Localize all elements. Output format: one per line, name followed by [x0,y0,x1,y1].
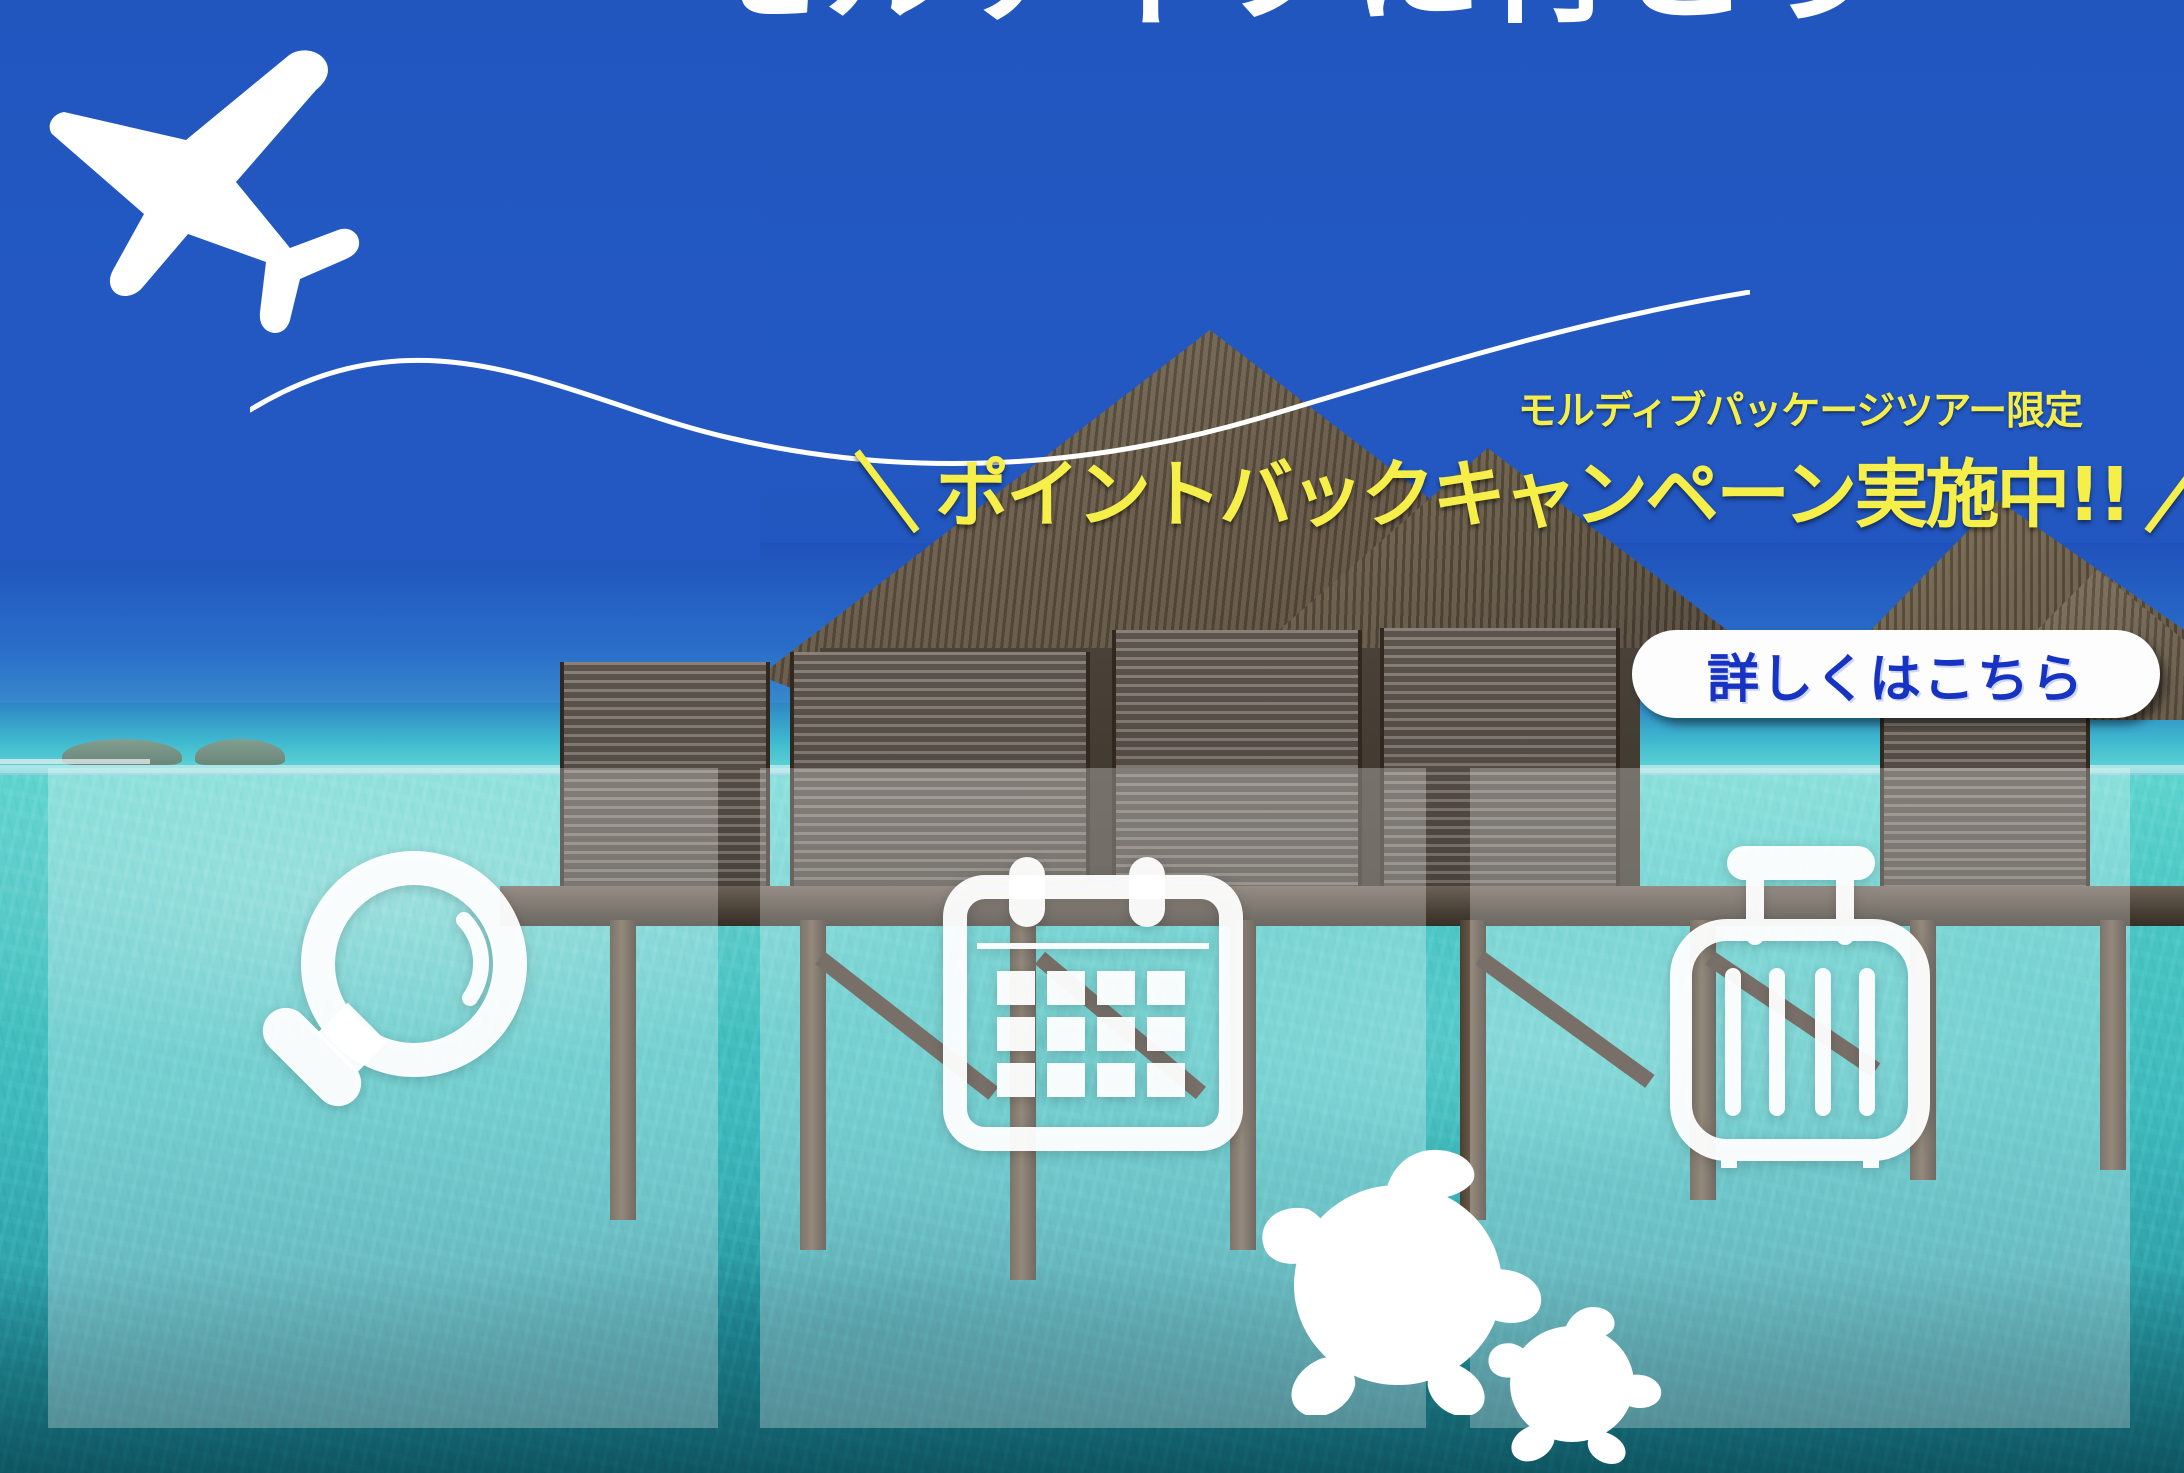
suitcase-icon [1470,838,2130,1168]
calendar-icon [760,838,1426,1168]
baby-sea-turtle-icon [1480,1300,1670,1465]
campaign-headline: ＼ ポイントバックキャンペーン実施中!! ／ [880,452,2184,538]
panel-search-tours[interactable]: ツアーを探す [48,768,718,1428]
maldives-travel-banner: モルディブに行こう モルディブパッケージツアー限定 ＼ ポイントバックキャンペー… [0,0,2184,1473]
airplane-icon [38,48,368,348]
slash-right: ／ [2124,452,2184,538]
page-title-text: モルディブに行こう [690,0,1887,42]
campaign-note: モルディブパッケージツアー限定 [1450,392,2150,433]
magnifier-icon [48,838,718,1168]
campaign-headline-text: ポイントバックキャンペーン実施中!! [935,458,2129,532]
details-cta-button[interactable]: 詳しくはこちら [1632,630,2160,718]
details-cta-label: 詳しくはこちら [1707,637,2085,712]
distant-jetty [0,759,150,764]
page-title: モルディブに行こう [690,10,2184,330]
campaign-note-text: モルディブパッケージツアー限定 [1450,392,2150,433]
